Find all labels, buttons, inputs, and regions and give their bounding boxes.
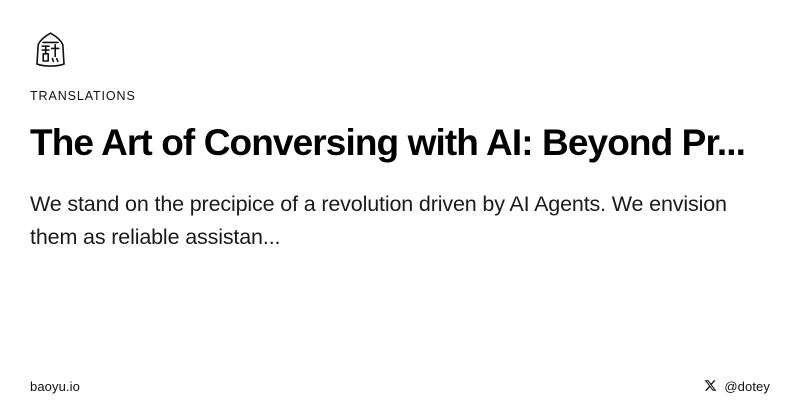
site-domain: baoyu.io: [30, 380, 80, 393]
footer: baoyu.io @dotey: [30, 379, 770, 394]
page-title: The Art of Conversing with AI: Beyond Pr…: [30, 119, 770, 166]
article-preview-card: TRANSLATIONS The Art of Conversing with …: [0, 0, 800, 420]
social-handle-group: @dotey: [704, 379, 770, 394]
category-kicker: TRANSLATIONS: [30, 90, 770, 103]
article-excerpt: We stand on the precipice of a revolutio…: [30, 188, 770, 254]
x-logo-icon: [704, 379, 717, 394]
seal-script-logo: [30, 30, 72, 72]
handle-label: @dotey: [724, 380, 770, 393]
